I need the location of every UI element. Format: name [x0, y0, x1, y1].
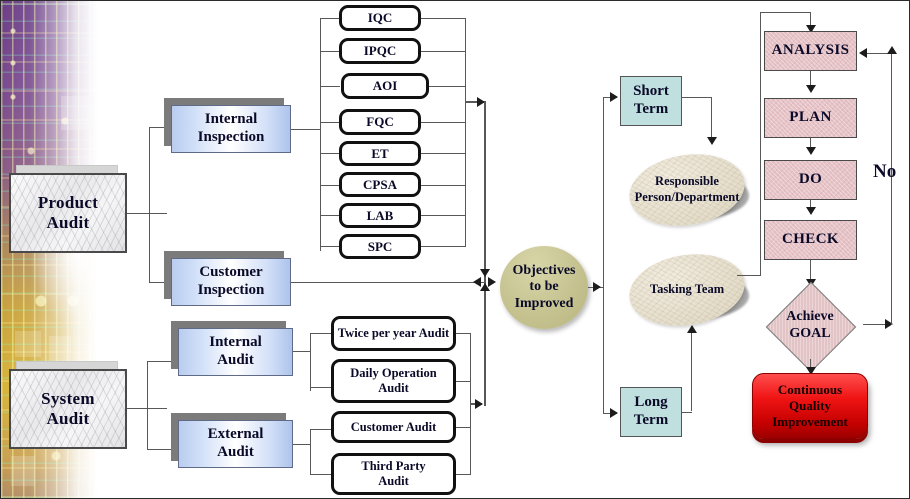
decision-label-2: GOAL [789, 326, 830, 343]
internal-audit-label-1: Internal [209, 334, 262, 352]
arrow-no-into-analysis [859, 48, 867, 58]
connector-cpsa-out [421, 185, 466, 186]
plan-label: PLAN [789, 109, 831, 127]
arrow-trunk-to-objectives [488, 277, 496, 287]
node-system-audit[interactable]: System Audit [9, 369, 127, 449]
external-audit-label-1: External [208, 426, 264, 444]
arrow-plan-to-do [806, 147, 816, 155]
internal-inspection-label-2: Inspection [198, 129, 265, 147]
connector-inspection-stub-7 [320, 215, 340, 216]
twice-per-year-audit-label: Twice per year Audit [338, 326, 449, 341]
node-plan[interactable]: PLAN [764, 98, 857, 138]
arrow-do-to-check [806, 207, 816, 215]
connector-main-trunk [484, 101, 486, 291]
arrow-to-short-term [610, 92, 618, 102]
connector-system-bus [147, 361, 148, 449]
connector-internal-audit-out [293, 351, 311, 352]
arrow-trunk-left [473, 277, 481, 287]
connector-external-audit-out [293, 444, 311, 445]
customer-audit-label: Customer Audit [351, 420, 437, 435]
connector-inspection-stub-3 [320, 86, 340, 87]
connector-spc-out [421, 246, 466, 247]
system-audit-label-2: Audit [46, 409, 89, 429]
connector-customer-inspection-to-main [291, 282, 484, 283]
tasking-team-label: Tasking Team [650, 282, 724, 298]
connector-iqc-out [421, 18, 466, 19]
system-audit-label-1: System [41, 389, 95, 409]
node-check[interactable]: CHECK [764, 220, 857, 260]
arrow-analysis-to-plan [806, 85, 816, 93]
long-term-label-1: Long [634, 394, 667, 412]
connector-inspection-stub-6 [320, 185, 340, 186]
node-objectives-to-be-improved[interactable]: Objectives to be Improved [500, 246, 588, 329]
customer-inspection-label-1: Customer [199, 264, 262, 282]
responsible-label-2: Person/Department [635, 190, 740, 206]
connector-inspection-collector [465, 18, 466, 247]
diagram-canvas: Product Audit System Audit Internal Insp… [0, 0, 910, 499]
connector-aoi-out [429, 86, 466, 87]
arrow-long-term-to-tasking [687, 325, 697, 333]
node-achieve-goal-decision[interactable]: Achieve GOAL [757, 289, 863, 363]
connector-fqc-out [421, 122, 466, 123]
connector-ea-stub-1 [310, 429, 332, 430]
daily-operation-audit-label-1: Daily Operation [350, 366, 436, 381]
analysis-label: ANALYSIS [772, 42, 850, 60]
node-et[interactable]: ET [339, 141, 421, 166]
outcome-label-1: Continuous [778, 382, 842, 398]
node-product-audit[interactable]: Product Audit [9, 173, 127, 253]
third-party-audit-label-2: Audit [378, 474, 409, 489]
label-no: No [873, 161, 896, 183]
connector-lab-out [421, 215, 466, 216]
connector-inspection-stub-1 [320, 18, 340, 19]
objectives-label-3: Improved [515, 296, 574, 313]
node-third-party-audit[interactable]: Third Party Audit [331, 453, 456, 495]
internal-audit-label-2: Audit [217, 352, 254, 370]
node-external-audit[interactable]: External Audit [178, 420, 293, 468]
node-cpsa[interactable]: CPSA [339, 172, 421, 197]
product-audit-label-1: Product [38, 193, 98, 213]
node-lab[interactable]: LAB [339, 203, 421, 228]
outcome-label-2: Quality [789, 398, 831, 414]
objectives-label-2: to be [529, 279, 558, 296]
connector-twice-out [456, 333, 471, 334]
connector-thirdparty-out [456, 474, 471, 475]
node-aoi[interactable]: AOI [341, 73, 429, 99]
connector-pdca-left-riser [760, 12, 761, 276]
objectives-label-1: Objectives [513, 263, 576, 280]
node-iqc[interactable]: IQC [339, 5, 421, 31]
connector-inspection-stub-8 [320, 246, 340, 247]
do-label: DO [799, 171, 822, 189]
ipqc-label: IPQC [364, 43, 397, 58]
node-internal-inspection[interactable]: Internal Inspection [171, 105, 291, 153]
daily-operation-audit-label-2: Audit [378, 381, 409, 396]
connector-inspection-stub-5 [320, 153, 340, 154]
connector-inspection-stub-2 [320, 51, 340, 52]
external-audit-label-2: Audit [217, 444, 254, 462]
outcome-label-3: Improvement [772, 414, 848, 430]
arrow-to-long-term [610, 408, 618, 418]
node-fqc[interactable]: FQC [339, 109, 421, 135]
connector-external-audit-bus [310, 429, 311, 475]
arrow-no-riser-head [887, 46, 897, 54]
fqc-label: FQC [366, 114, 393, 129]
connector-trunk-lower [484, 291, 486, 406]
node-tasking-team[interactable]: Tasking Team [629, 255, 745, 325]
connector-term-split-bus [603, 97, 604, 414]
iqc-label: IQC [368, 10, 393, 25]
node-internal-audit[interactable]: Internal Audit [178, 328, 293, 376]
lab-label: LAB [367, 208, 394, 223]
customer-inspection-label-2: Inspection [198, 282, 265, 300]
node-customer-audit[interactable]: Customer Audit [331, 411, 456, 443]
connector-ea-stub-2 [310, 474, 332, 475]
connector-product-bus [149, 127, 150, 282]
connector-internal-audit-bus [310, 333, 311, 391]
connector-custaudit-out [456, 427, 471, 428]
et-label: ET [371, 146, 388, 161]
connector-short-term-down [711, 97, 712, 141]
node-do[interactable]: DO [764, 160, 857, 200]
arrow-objectives-out [593, 282, 601, 292]
node-ipqc[interactable]: IPQC [339, 38, 421, 64]
connector-inspection-bus [320, 18, 321, 251]
internal-inspection-label-1: Internal [205, 111, 258, 129]
node-twice-per-year-audit[interactable]: Twice per year Audit [331, 316, 456, 351]
connector-pdca-top-entry [760, 12, 811, 13]
responsible-label-1: Responsible [655, 174, 719, 190]
check-label: CHECK [782, 231, 839, 249]
node-responsible-person-department[interactable]: Responsible Person/Department [629, 155, 745, 225]
connector-no-riser [891, 53, 892, 325]
connector-daily-out [456, 381, 471, 382]
node-spc[interactable]: SPC [339, 234, 421, 259]
node-short-term[interactable]: Short Term [620, 76, 682, 126]
cpsa-label: CPSA [363, 177, 397, 192]
node-analysis[interactable]: ANALYSIS [764, 31, 857, 71]
arrow-trunk-down [480, 269, 490, 277]
node-continuous-quality-improvement[interactable]: Continuous Quality Improvement [752, 373, 868, 439]
connector-short-term-out [682, 97, 712, 98]
short-term-label-2: Term [634, 101, 668, 119]
connector-tasking-to-pdca [737, 275, 761, 276]
decision-label-1: Achieve [786, 309, 833, 326]
node-daily-operation-audit[interactable]: Daily Operation Audit [331, 359, 456, 403]
long-term-label-2: Term [634, 412, 668, 430]
connector-inspection-stub-4 [320, 122, 340, 123]
node-customer-inspection[interactable]: Customer Inspection [171, 258, 291, 306]
connector-long-term-up [691, 331, 692, 411]
connector-ia-stub-1 [310, 333, 332, 334]
product-audit-label-2: Audit [46, 213, 89, 233]
arrow-audit-to-trunk [475, 399, 483, 409]
node-long-term[interactable]: Long Term [620, 387, 682, 437]
connector-long-term-out [682, 412, 692, 413]
connector-internal-inspection-out [291, 129, 321, 130]
aoi-label: AOI [373, 78, 398, 93]
third-party-audit-label-1: Third Party [361, 459, 425, 474]
connector-et-out [421, 153, 466, 154]
connector-product-to-bus [127, 213, 167, 214]
spc-label: SPC [368, 239, 393, 254]
connector-ia-stub-2 [310, 387, 332, 388]
arrow-short-term-to-responsible [707, 137, 717, 145]
short-term-label-1: Short [633, 83, 669, 101]
connector-ipqc-out [421, 51, 466, 52]
